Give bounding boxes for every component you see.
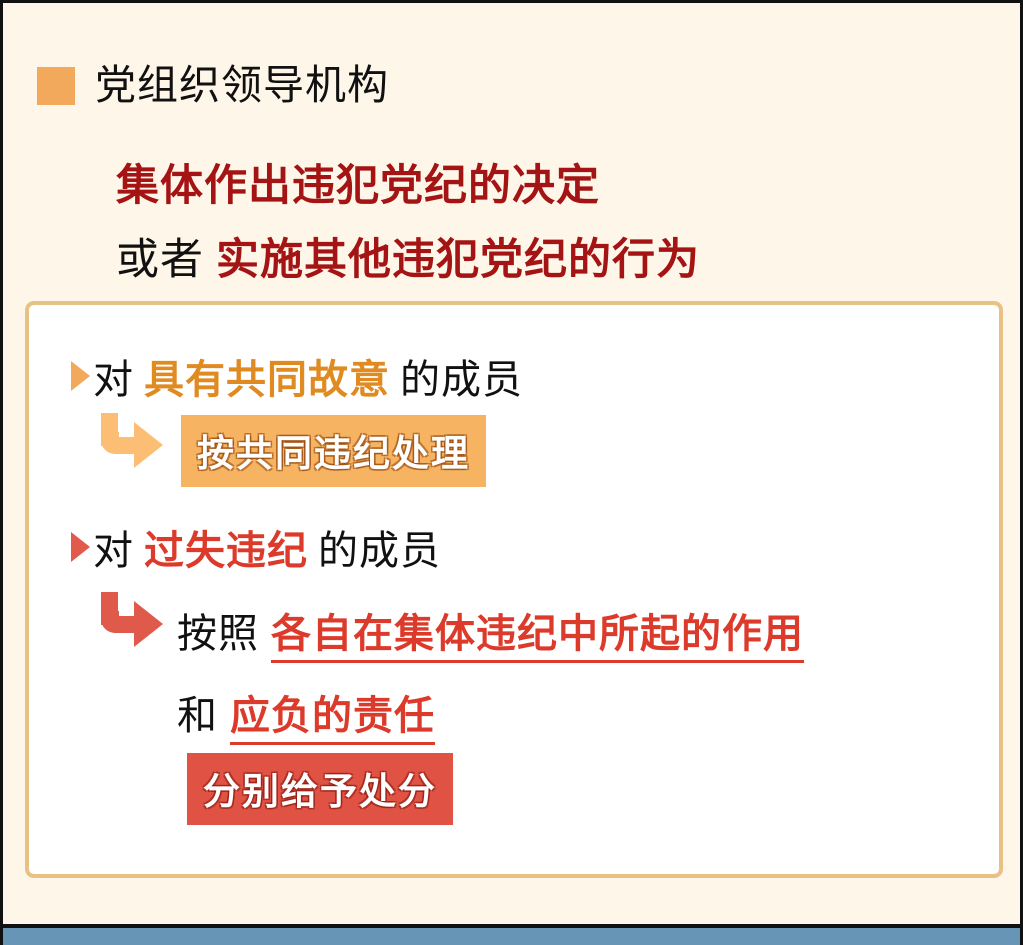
slide-root: 党组织领导机构 集体作出违犯党纪的决定 或者实施其他违犯党纪的行为 对具有共同故… — [0, 0, 1023, 945]
item2-emphasis: 过失违纪 — [144, 528, 308, 574]
turn-right-arrow-red-icon — [101, 592, 173, 648]
header-statement-line-2: 或者实施其他违犯党纪的行为 — [116, 225, 700, 287]
status-badge-individual-punishment: 分别给予处分 — [187, 753, 453, 825]
item2-detail2-emphasis: 应负的责任 — [230, 693, 435, 745]
item2-detail1-emphasis: 各自在集体违纪中所起的作用 — [271, 611, 804, 663]
page-title: 党组织领导机构 — [95, 65, 389, 106]
arrow-head — [134, 422, 163, 468]
item2-detail-line-1: 按照各自在集体违纪中所起的作用 — [177, 601, 804, 659]
orange-square-marker-icon — [37, 67, 75, 105]
item1-prefix: 对 — [93, 357, 134, 403]
header-title-row: 党组织领导机构 — [37, 65, 389, 106]
list-item: 对具有共同故意的成员 — [71, 347, 523, 405]
item2-prefix: 对 — [93, 528, 134, 574]
content-panel: 对具有共同故意的成员 按共同违纪处理 对过失违纪的成员 按照各自在集体违纪中所起… — [25, 301, 1003, 878]
status-badge-common-violation: 按共同违纪处理 — [181, 415, 486, 487]
item2-suffix: 的成员 — [318, 528, 441, 574]
list-item-text: 对具有共同故意的成员 — [93, 347, 523, 405]
header-statement-line-1: 集体作出违犯党纪的决定 — [116, 151, 600, 213]
item1-suffix: 的成员 — [400, 357, 523, 403]
arrow-bend — [101, 437, 138, 454]
item1-emphasis: 具有共同故意 — [144, 357, 390, 403]
red-triangle-bullet-icon — [71, 532, 90, 562]
orange-triangle-bullet-icon — [71, 361, 90, 391]
arrow-head — [134, 601, 163, 647]
item2-detail2-plain: 和 — [177, 693, 218, 739]
turn-right-arrow-orange-icon — [101, 413, 173, 469]
item2-detail-line-2: 和应负的责任 — [177, 683, 435, 741]
header-line2-plain: 或者 — [116, 235, 204, 285]
list-item: 对过失违纪的成员 — [71, 518, 441, 576]
bottom-accent-bar — [3, 924, 1020, 945]
list-item-text: 对过失违纪的成员 — [93, 518, 441, 576]
item2-detail1-plain: 按照 — [177, 611, 259, 657]
header-line2-emphasis: 实施其他违犯党纪的行为 — [216, 235, 700, 285]
arrow-bend — [101, 616, 138, 633]
